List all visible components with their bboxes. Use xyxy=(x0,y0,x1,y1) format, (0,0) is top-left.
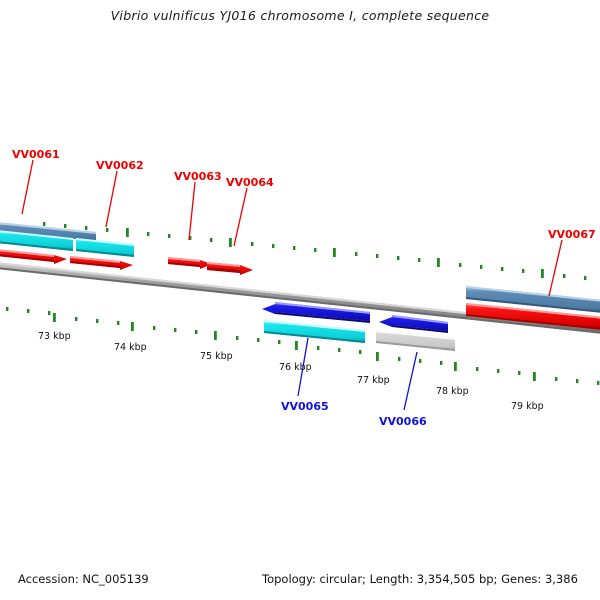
leader-line-vv0062 xyxy=(106,171,117,227)
gene-arrow-vv0064[interactable] xyxy=(207,262,253,275)
leader-line-vv0067 xyxy=(549,240,562,296)
gene-arrow-vv0066[interactable] xyxy=(379,315,448,333)
feature-bar-cyan-vv0062[interactable] xyxy=(76,238,134,257)
feature-bar-cyan-vv0065[interactable] xyxy=(264,320,365,343)
topology-label: Topology: circular; Length: 3,354,505 bp… xyxy=(262,572,578,586)
gene-label-vv0062[interactable]: VV0062 xyxy=(96,159,144,172)
axis-tick-label-73kbp: 73 kbp xyxy=(38,331,71,342)
axis-tick-label-79kbp: 79 kbp xyxy=(511,401,544,412)
gene-label-vv0065[interactable]: VV0065 xyxy=(281,400,329,413)
gene-label-vv0063[interactable]: VV0063 xyxy=(174,170,222,183)
genome-map-viewer: Vibrio vulnificus YJ016 chromosome I, co… xyxy=(0,0,600,600)
gene-label-vv0067[interactable]: VV0067 xyxy=(548,228,596,241)
axis-tick-label-78kbp: 78 kbp xyxy=(436,386,469,397)
feature-bar-gray-vv0066[interactable] xyxy=(376,330,455,351)
gene-arrow-vv0061[interactable] xyxy=(0,249,67,264)
axis-tick-label-77kbp: 77 kbp xyxy=(357,375,390,386)
genome-map-canvas xyxy=(0,0,600,600)
accession-label: Accession: NC_005139 xyxy=(18,572,149,586)
gene-arrow-vv0062[interactable] xyxy=(70,256,133,270)
axis-tick-label-76kbp: 76 kbp xyxy=(279,362,312,373)
leader-line-vv0063 xyxy=(189,182,195,240)
axis-tick-label-74kbp: 74 kbp xyxy=(114,342,147,353)
gene-label-vv0061[interactable]: VV0061 xyxy=(12,148,60,161)
gene-label-vv0064[interactable]: VV0064 xyxy=(226,176,274,189)
axis-tick-label-75kbp: 75 kbp xyxy=(200,351,233,362)
gene-arrow-vv0063[interactable] xyxy=(168,257,212,269)
leader-line-vv0061 xyxy=(22,160,33,214)
leader-line-vv0066 xyxy=(404,352,417,410)
gene-label-vv0066[interactable]: VV0066 xyxy=(379,415,427,428)
leader-line-vv0064 xyxy=(234,188,247,246)
